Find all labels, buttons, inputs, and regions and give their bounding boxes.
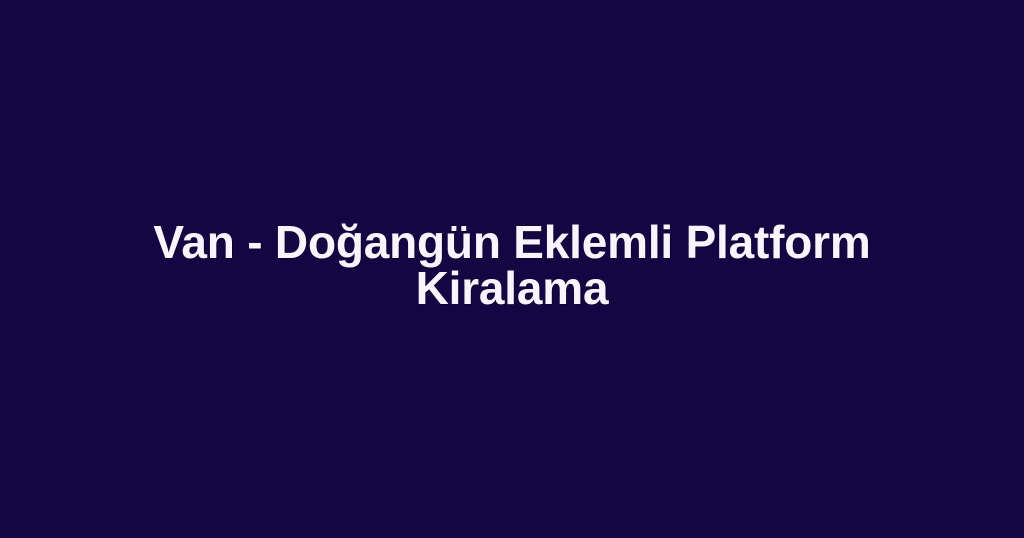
page-title-line-2: Kiralama [70,265,954,311]
share-card: Van - Doğangün Eklemli Platform Kiralama [0,0,1024,538]
page-title-line-1: Van - Doğangün Eklemli Platform [70,219,954,265]
headline-block: Van - Doğangün Eklemli Platform Kiralama [0,219,1024,311]
page-title: Van - Doğangün Eklemli Platform Kiralama [70,219,954,311]
